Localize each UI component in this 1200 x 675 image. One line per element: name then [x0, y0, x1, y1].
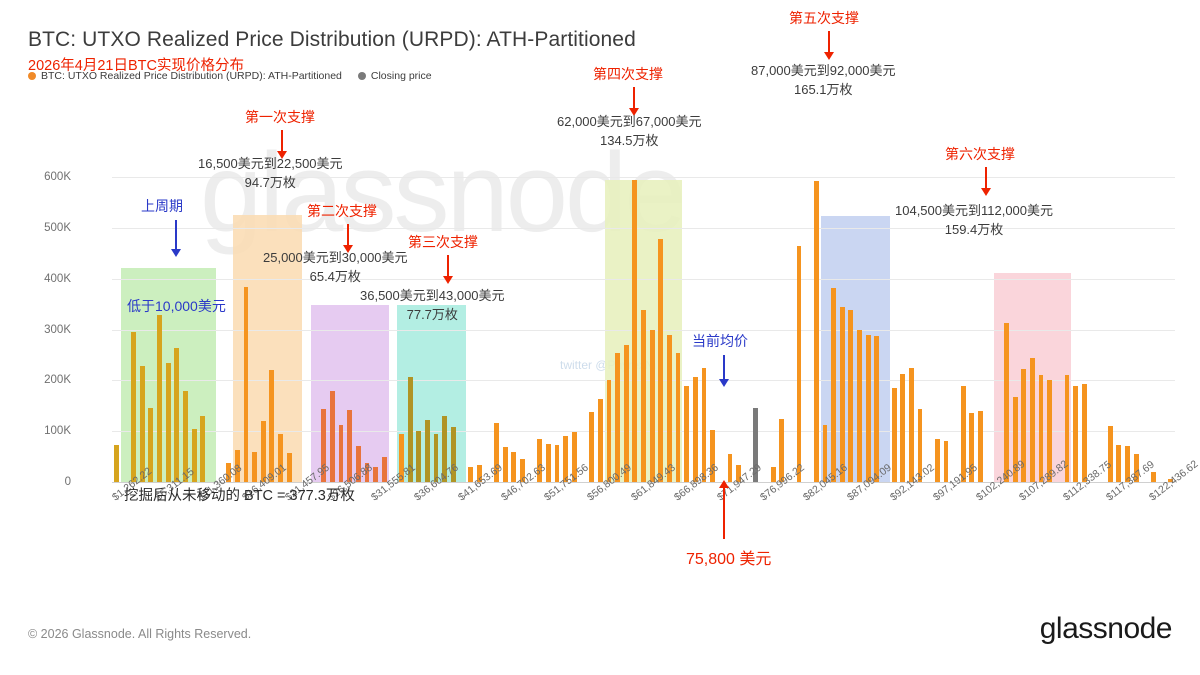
bar[interactable] [269, 370, 274, 482]
bar[interactable] [1151, 472, 1156, 482]
annotation-support-5-arrow [828, 31, 830, 53]
bar[interactable] [632, 180, 637, 482]
annotation-support-2-line1: 25,000美元到30,000美元 [263, 247, 408, 266]
bar[interactable] [935, 439, 940, 482]
bar[interactable] [607, 380, 612, 482]
annotation-support-4-line2: 134.5万枚 [557, 130, 702, 149]
bar[interactable] [874, 336, 879, 482]
bar[interactable] [857, 330, 862, 482]
bar[interactable] [1073, 386, 1078, 482]
annotation-prior-cycle-value: 低于10,000美元 [127, 296, 226, 316]
bar[interactable] [166, 363, 171, 482]
bar[interactable] [416, 431, 421, 482]
bar[interactable] [676, 353, 681, 482]
bar[interactable] [831, 288, 836, 482]
annotation-support-4-head: 第四次支撑 [593, 64, 663, 84]
annotation-support-1-head: 第一次支撑 [245, 107, 315, 127]
annotation-support-6: 第六次支撑 [945, 144, 1015, 164]
brand-logo: glassnode [1040, 612, 1172, 646]
bar[interactable] [503, 447, 508, 482]
annotation-support-6-value: 104,500美元到112,000美元 159.4万枚 [895, 200, 1053, 238]
bar[interactable] [944, 441, 949, 482]
chart-title: BTC: UTXO Realized Price Distribution (U… [28, 28, 636, 52]
bar[interactable] [866, 335, 871, 482]
y-axis-tick-label: 0 [17, 476, 71, 488]
bar[interactable] [244, 287, 249, 483]
annotation-support-4-value: 62,000美元到67,000美元 134.5万枚 [557, 111, 702, 149]
bar[interactable] [658, 239, 663, 482]
annotation-support-5-line2: 165.1万枚 [751, 79, 896, 98]
legend-item-closing-price[interactable]: Closing price [358, 70, 432, 82]
bar[interactable] [382, 457, 387, 482]
annotation-support-1: 第一次支撑 [245, 107, 315, 127]
annotation-support-2-line2: 65.4万枚 [263, 266, 408, 285]
bar[interactable] [555, 445, 560, 482]
bar[interactable] [840, 307, 845, 482]
annotation-support-3-head: 第三次支撑 [408, 232, 478, 252]
bar[interactable] [157, 315, 162, 482]
annotation-support-5: 第五次支撑 [789, 8, 859, 28]
bar[interactable] [252, 452, 257, 482]
bar[interactable] [287, 453, 292, 482]
bar[interactable] [339, 425, 344, 482]
annotation-support-3-arrow [447, 255, 449, 277]
price-call-label: 75,800 美元 [686, 545, 771, 569]
bar[interactable] [1039, 375, 1044, 482]
bar[interactable] [615, 353, 620, 482]
bar[interactable] [1116, 445, 1121, 482]
y-axis-tick-label: 300K [17, 324, 71, 336]
chart-canvas: BTC: UTXO Realized Price Distribution (U… [0, 0, 1200, 675]
annotation-support-3-value: 36,500美元到43,000美元 77.7万枚 [360, 285, 505, 323]
legend-swatch-closing-price [358, 72, 366, 80]
annotation-current-average-price-head: 当前均价 [692, 331, 748, 351]
bar[interactable] [702, 368, 707, 482]
bar[interactable] [667, 335, 672, 482]
annotation-current-average-price: 当前均价 [692, 331, 748, 351]
annotation-support-6-line1: 104,500美元到112,000美元 [895, 200, 1053, 219]
annotation-support-5-line1: 87,000美元到92,000美元 [751, 60, 896, 79]
annotation-prior-cycle-head: 上周期 [141, 196, 183, 216]
bar[interactable] [693, 377, 698, 482]
bar[interactable] [900, 374, 905, 482]
y-axis-tick-label: 200K [17, 374, 71, 386]
annotation-support-6-line2: 159.4万枚 [895, 219, 1053, 238]
legend-label-closing-price: Closing price [371, 70, 432, 82]
y-axis-tick-label: 400K [17, 273, 71, 285]
price-call-arrow [723, 487, 725, 539]
annotation-support-6-head: 第六次支撑 [945, 144, 1015, 164]
bar[interactable] [174, 348, 179, 482]
annotation-support-4-line1: 62,000美元到67,000美元 [557, 111, 702, 130]
bar[interactable] [347, 410, 352, 482]
annotation-support-2-head: 第二次支撑 [307, 201, 377, 221]
annotation-support-3: 第三次支撑 [408, 232, 478, 252]
legend-swatch-urpd [28, 72, 36, 80]
annotation-support-5-value: 87,000美元到92,000美元 165.1万枚 [751, 60, 896, 98]
annotation-support-3-line1: 36,500美元到43,000美元 [360, 285, 505, 304]
never-moved-note: 挖掘后从未移动的 BTC = 377.3万枚 [124, 484, 355, 505]
annotation-support-2: 第二次支撑 [307, 201, 377, 221]
bar[interactable] [1004, 323, 1009, 482]
annotation-support-6-arrow [985, 167, 987, 189]
y-axis-tick-label: 500K [17, 222, 71, 234]
bar[interactable] [728, 454, 733, 482]
annotation-prior-cycle-arrow [175, 220, 177, 250]
annotation-current-average-price-arrow [723, 355, 725, 380]
bar[interactable] [684, 386, 689, 482]
annotation-support-2-arrow [347, 224, 349, 246]
bar[interactable] [641, 310, 646, 482]
bar[interactable] [425, 420, 430, 482]
legend-label-urpd: BTC: UTXO Realized Price Distribution (U… [41, 70, 342, 82]
bar[interactable] [909, 368, 914, 482]
bar[interactable] [814, 181, 819, 482]
annotation-support-4-arrow [633, 87, 635, 109]
legend-item-urpd[interactable]: BTC: UTXO Realized Price Distribution (U… [28, 70, 342, 82]
bar[interactable] [1030, 358, 1035, 482]
chart-legend: BTC: UTXO Realized Price Distribution (U… [28, 70, 432, 82]
bar[interactable] [848, 310, 853, 482]
bar[interactable] [598, 399, 603, 482]
annotation-support-1-value: 16,500美元到22,500美元 94.7万枚 [198, 153, 343, 191]
annotation-prior-cycle-line1: 低于10,000美元 [127, 296, 226, 316]
y-axis-tick-label: 600K [17, 171, 71, 183]
bar[interactable] [114, 445, 119, 482]
bar[interactable] [546, 444, 551, 482]
bar[interactable] [1108, 426, 1113, 482]
bar[interactable] [140, 366, 145, 482]
bar[interactable] [797, 246, 802, 482]
bar[interactable] [1082, 384, 1087, 482]
annotation-support-5-head: 第五次支撑 [789, 8, 859, 28]
annotation-support-2-value: 25,000美元到30,000美元 65.4万枚 [263, 247, 408, 285]
annotation-support-1-line1: 16,500美元到22,500美元 [198, 153, 343, 172]
y-axis-tick-label: 100K [17, 425, 71, 437]
copyright-text: © 2026 Glassnode. All Rights Reserved. [28, 627, 251, 641]
annotation-support-1-line2: 94.7万枚 [198, 172, 343, 191]
bar[interactable] [511, 452, 516, 482]
annotation-prior-cycle: 上周期 [141, 196, 183, 216]
annotation-support-3-line2: 77.7万枚 [360, 304, 505, 323]
annotation-support-4: 第四次支撑 [593, 64, 663, 84]
bar[interactable] [200, 416, 205, 482]
bar[interactable] [131, 332, 136, 482]
bar[interactable] [650, 330, 655, 482]
annotation-support-1-arrow [281, 130, 283, 152]
